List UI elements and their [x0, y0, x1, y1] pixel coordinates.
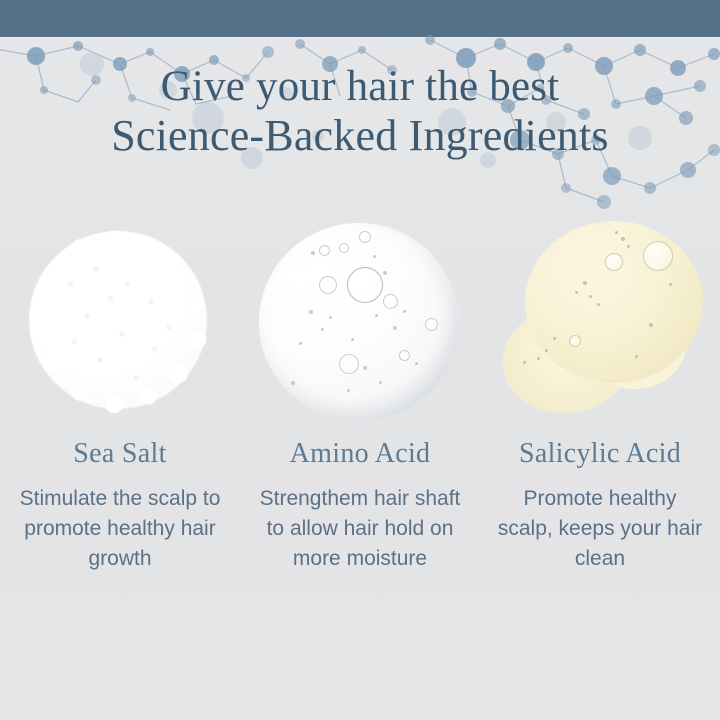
ingredient-card-amino-acid: Amino Acid Strengthem hair shaft to allo… — [240, 215, 480, 574]
ingredient-name-sea-salt: Sea Salt — [73, 438, 166, 470]
ingredient-name-salicylic-acid: Salicylic Acid — [519, 438, 681, 470]
ingredient-description-amino-acid: Strengthem hair shaft to allow hair hold… — [255, 484, 465, 574]
headline-line-1: Give your hair the best — [0, 62, 720, 111]
amino-acid-gel-droplet-icon — [255, 215, 465, 420]
ingredient-poster: Give your hair the best Science-Backed I… — [0, 0, 720, 720]
salicylic-acid-serum-blob-icon — [495, 215, 705, 420]
ingredient-description-salicylic-acid: Promote healthy scalp, keeps your hair c… — [495, 484, 705, 574]
ingredient-description-sea-salt: Stimulate the scalp to promote healthy h… — [15, 484, 225, 574]
page-title: Give your hair the best Science-Backed I… — [0, 62, 720, 160]
headline-line-2: Science-Backed Ingredients — [0, 111, 720, 160]
ingredient-card-salicylic-acid: Salicylic Acid Promote healthy scalp, ke… — [480, 215, 720, 574]
sea-salt-crystals-icon — [15, 215, 225, 420]
ingredient-columns: Sea Salt Stimulate the scalp to promote … — [0, 215, 720, 574]
ingredient-name-amino-acid: Amino Acid — [290, 438, 431, 470]
ingredient-card-sea-salt: Sea Salt Stimulate the scalp to promote … — [0, 215, 240, 574]
top-accent-bar — [0, 0, 720, 37]
